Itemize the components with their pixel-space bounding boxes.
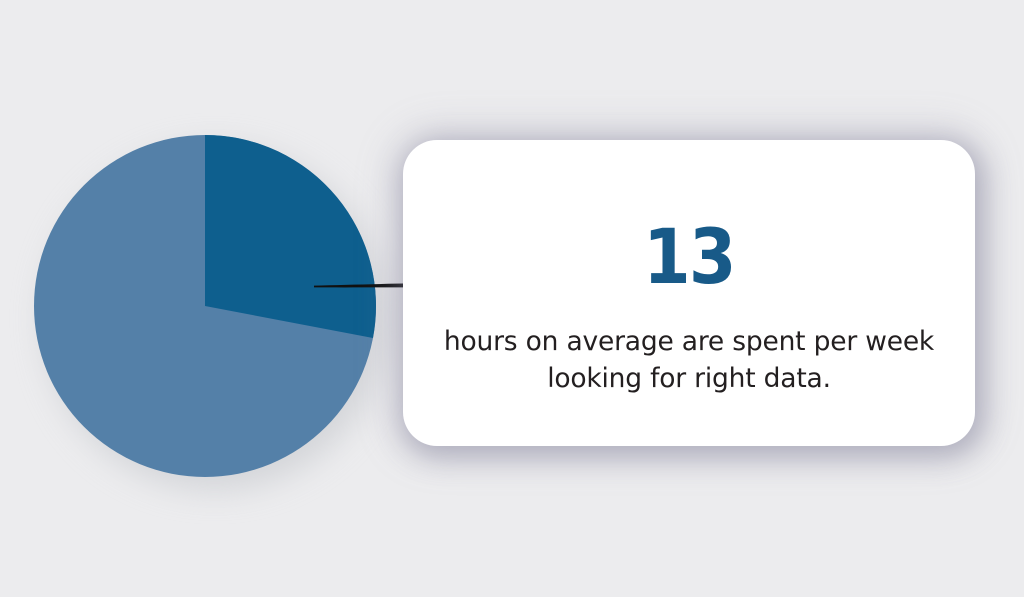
stat-card-content: 13 hours on average are spent per week l… xyxy=(403,140,975,446)
stat-caption-line-2: looking for right data. xyxy=(429,360,949,397)
stat-caption-line-1: hours on average are spent per week xyxy=(429,323,949,360)
stat-value: 13 xyxy=(643,219,735,295)
stat-card: 13 hours on average are spent per week l… xyxy=(403,140,975,446)
stat-caption: hours on average are spent per week look… xyxy=(429,323,949,397)
infographic-canvas: 13 hours on average are spent per week l… xyxy=(0,0,1024,597)
